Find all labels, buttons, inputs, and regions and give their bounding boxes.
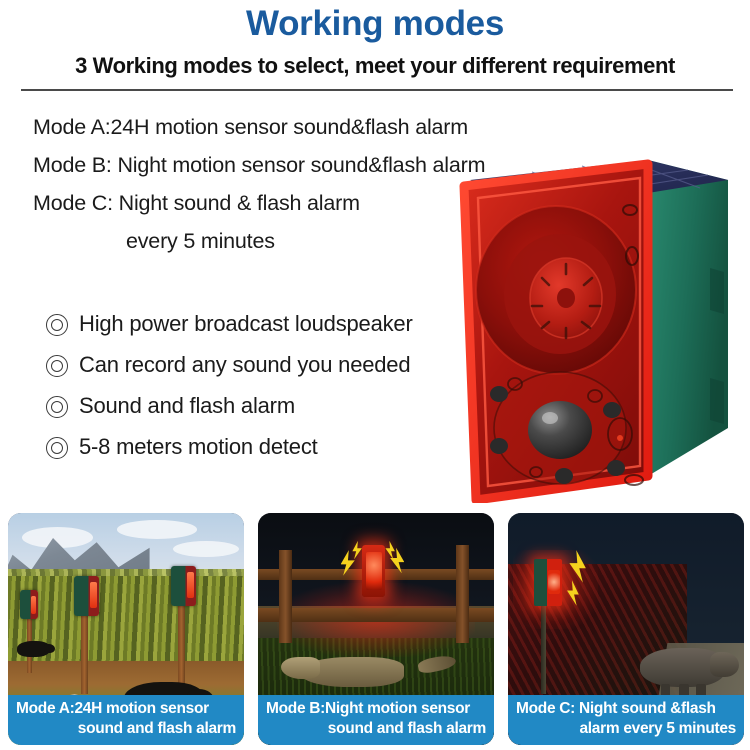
caption-line-1: Mode B:Night motion sensor <box>266 699 486 719</box>
caption-line-2: sound and flash alarm <box>16 719 236 739</box>
panel-mode-a[interactable]: Mode A:24H motion sensor sound and flash… <box>8 513 244 745</box>
mounted-alarm-device <box>362 545 386 596</box>
double-circle-icon <box>46 355 68 377</box>
feature-list: High power broadcast loudspeaker Can rec… <box>46 303 506 467</box>
mounted-alarm-device <box>171 566 196 606</box>
product-image-solar-alarm <box>452 128 742 503</box>
caption-line-1: Mode C: Night sound &flash <box>516 699 736 719</box>
double-circle-icon <box>46 437 68 459</box>
panel-mode-b[interactable]: Mode B:Night motion sensor sound and fla… <box>258 513 494 745</box>
caption-line-1: Mode A:24H motion sensor <box>16 699 236 719</box>
mounted-alarm-device <box>534 559 562 605</box>
feature-label: High power broadcast loudspeaker <box>79 311 413 337</box>
feature-item: Sound and flash alarm <box>46 385 506 426</box>
feature-label: 5-8 meters motion detect <box>79 434 318 460</box>
caption-line-2: alarm every 5 minutes <box>516 719 736 739</box>
feature-item: Can record any sound you needed <box>46 344 506 385</box>
wild-boar <box>17 641 50 657</box>
mounted-alarm-device <box>20 590 38 619</box>
panel-caption: Mode C: Night sound &flash alarm every 5… <box>508 695 744 745</box>
mode-photo-panels: Mode A:24H motion sensor sound and flash… <box>0 513 750 750</box>
double-circle-icon <box>46 314 68 336</box>
panel-caption: Mode B:Night motion sensor sound and fla… <box>258 695 494 745</box>
feature-label: Sound and flash alarm <box>79 393 295 419</box>
panel-caption: Mode A:24H motion sensor sound and flash… <box>8 695 244 745</box>
page-title: Working modes <box>0 4 750 44</box>
page-subtitle: 3 Working modes to select, meet your dif… <box>0 53 750 79</box>
working-modes-page: Working modes 3 Working modes to select,… <box>0 0 750 750</box>
double-circle-icon <box>46 396 68 418</box>
panel-mode-c[interactable]: Mode C: Night sound &flash alarm every 5… <box>508 513 744 745</box>
header-divider <box>21 89 733 91</box>
wild-boar <box>640 648 725 687</box>
mounted-alarm-device <box>74 576 99 616</box>
feature-item: 5-8 meters motion detect <box>46 426 506 467</box>
caption-line-2: sound and flash alarm <box>266 719 486 739</box>
feature-label: Can record any sound you needed <box>79 352 410 378</box>
feature-item: High power broadcast loudspeaker <box>46 303 506 344</box>
